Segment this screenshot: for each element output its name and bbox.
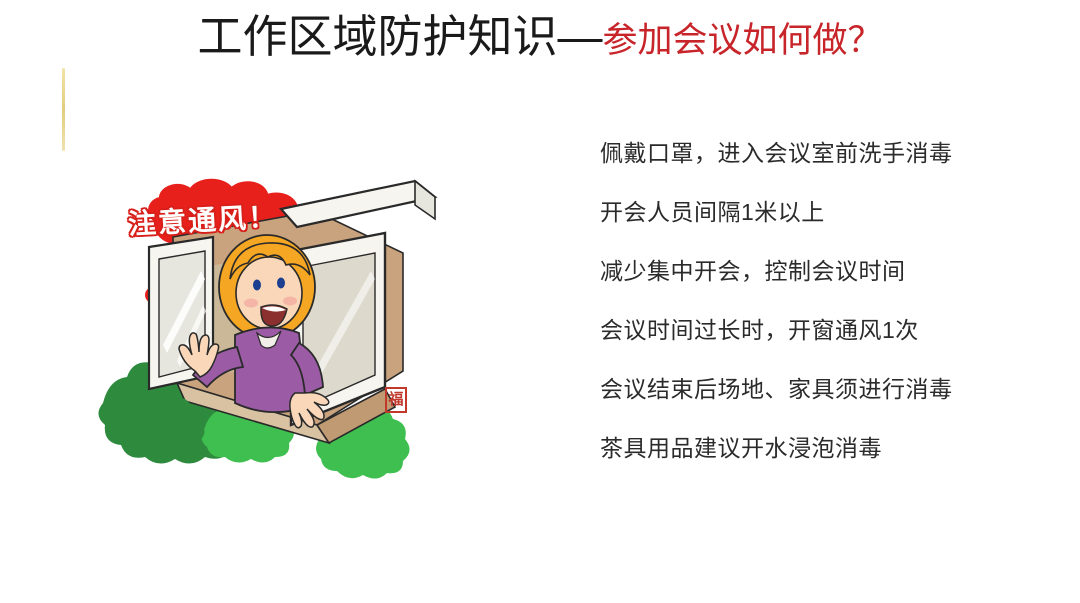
list-item: 会议时间过长时，开窗通风1次 — [600, 319, 1030, 349]
bubble-text: 注意通风！ — [127, 195, 279, 243]
page-title-main: 工作区域防护知识— — [197, 11, 602, 62]
list-item: 开会人员间隔1米以上 — [600, 201, 1030, 231]
list-item: 减少集中开会，控制会议时间 — [600, 260, 1030, 290]
page-title: 工作区域防护知识—参加会议如何做？ — [0, 14, 1080, 59]
guidelines-list: 佩戴口罩，进入会议室前洗手消毒 开会人员间隔1米以上 减少集中开会，控制会议时间… — [600, 142, 1030, 496]
window-lintel — [281, 181, 435, 227]
list-item: 佩戴口罩，进入会议室前洗手消毒 — [600, 142, 1030, 172]
accent-rule — [62, 68, 65, 151]
list-item: 茶具用品建议开水浸泡消毒 — [600, 437, 1030, 467]
list-item: 会议结束后场地、家具须进行消毒 — [600, 378, 1030, 408]
seal-stamp: 福 — [385, 387, 407, 413]
page-title-accent: 参加会议如何做？ — [603, 21, 883, 60]
